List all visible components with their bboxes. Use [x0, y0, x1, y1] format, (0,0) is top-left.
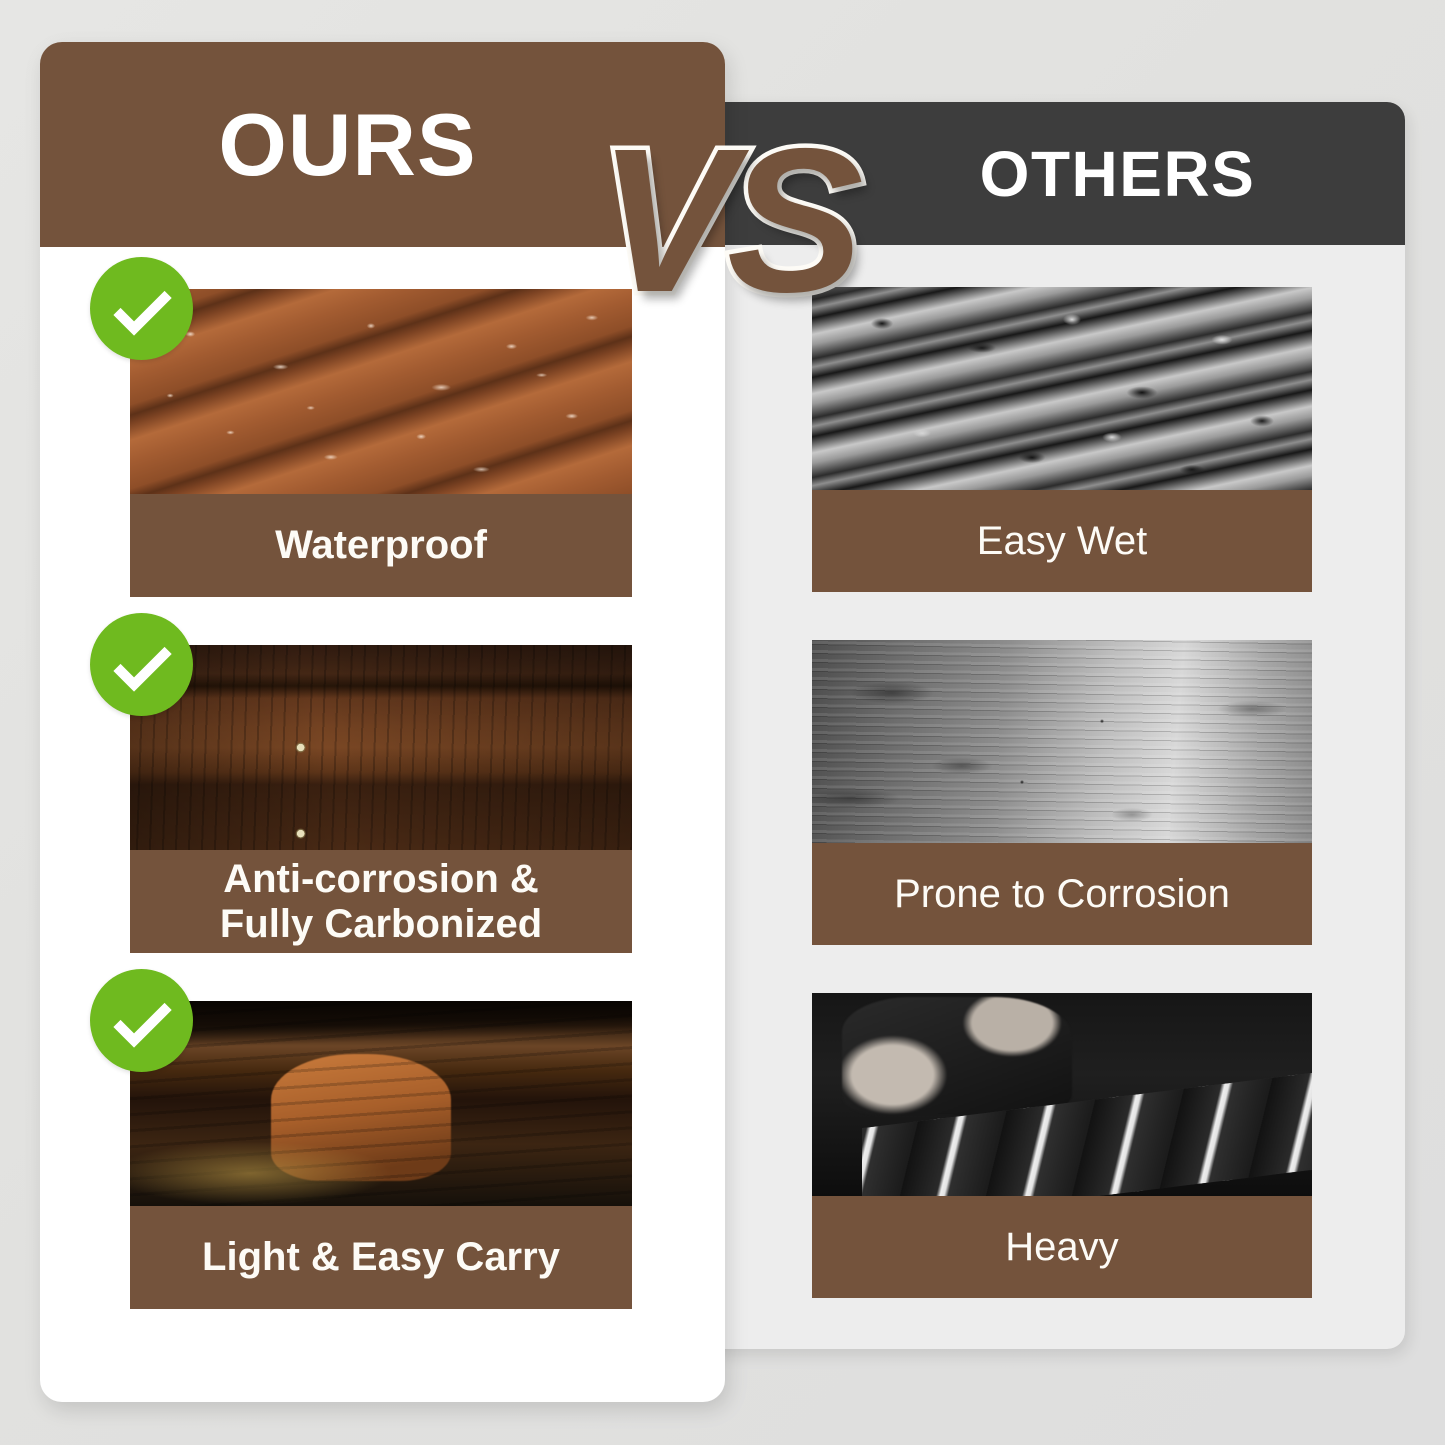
ours-feature-item: Light & Easy Carry: [130, 1001, 632, 1309]
ours-feature-item: Waterproof: [130, 289, 632, 597]
others-feature-item: Prone to Corrosion: [812, 640, 1312, 945]
ours-header-title: OURS: [218, 101, 476, 189]
grayscale-corroded-board-image: [812, 640, 1312, 843]
wet-wood-decking-image: [130, 289, 632, 494]
check-icon: [90, 969, 193, 1072]
ours-feature-image: [130, 1001, 632, 1206]
ours-feature-caption-line: Fully Carbonized: [220, 902, 542, 947]
others-feature-caption-line: Prone to Corrosion: [894, 872, 1230, 917]
hand-lifting-wood-image: [130, 1001, 632, 1206]
ours-feature-image: [130, 645, 632, 850]
others-feature-caption: Heavy: [812, 1196, 1312, 1298]
check-icon: [90, 613, 193, 716]
others-feature-caption-line: Easy Wet: [977, 519, 1147, 564]
ours-feature-image: [130, 289, 632, 494]
others-feature-caption: Easy Wet: [812, 490, 1312, 592]
grayscale-wet-decking-image: [812, 287, 1312, 490]
ours-feature-caption-line: Anti-corrosion &: [223, 857, 539, 902]
carbonized-wood-image: [130, 645, 632, 850]
check-icon: [90, 257, 193, 360]
ours-feature-item: Anti-corrosion & Fully Carbonized: [130, 645, 632, 953]
others-feature-image: [812, 287, 1312, 490]
others-feature-image: [812, 993, 1312, 1196]
grayscale-heavy-lifting-image: [812, 993, 1312, 1196]
others-feature-item: Easy Wet: [812, 287, 1312, 592]
others-feature-caption-line: Heavy: [1005, 1225, 1118, 1270]
others-feature-caption: Prone to Corrosion: [812, 843, 1312, 945]
ours-feature-caption: Waterproof: [130, 494, 632, 597]
ours-feature-caption-line: Waterproof: [275, 523, 487, 568]
ours-feature-caption: Light & Easy Carry: [130, 1206, 632, 1309]
ours-feature-caption: Anti-corrosion & Fully Carbonized: [130, 850, 632, 953]
vs-badge: VS: [598, 118, 855, 323]
ours-feature-caption-line: Light & Easy Carry: [202, 1235, 560, 1280]
others-feature-image: [812, 640, 1312, 843]
ours-feature-list: Waterproof Anti-corrosion & Fully Carbon…: [40, 247, 725, 1309]
others-feature-list: Easy Wet Prone to Corrosion Heavy: [700, 245, 1405, 1298]
others-header-title: OTHERS: [980, 142, 1256, 206]
others-feature-item: Heavy: [812, 993, 1312, 1298]
